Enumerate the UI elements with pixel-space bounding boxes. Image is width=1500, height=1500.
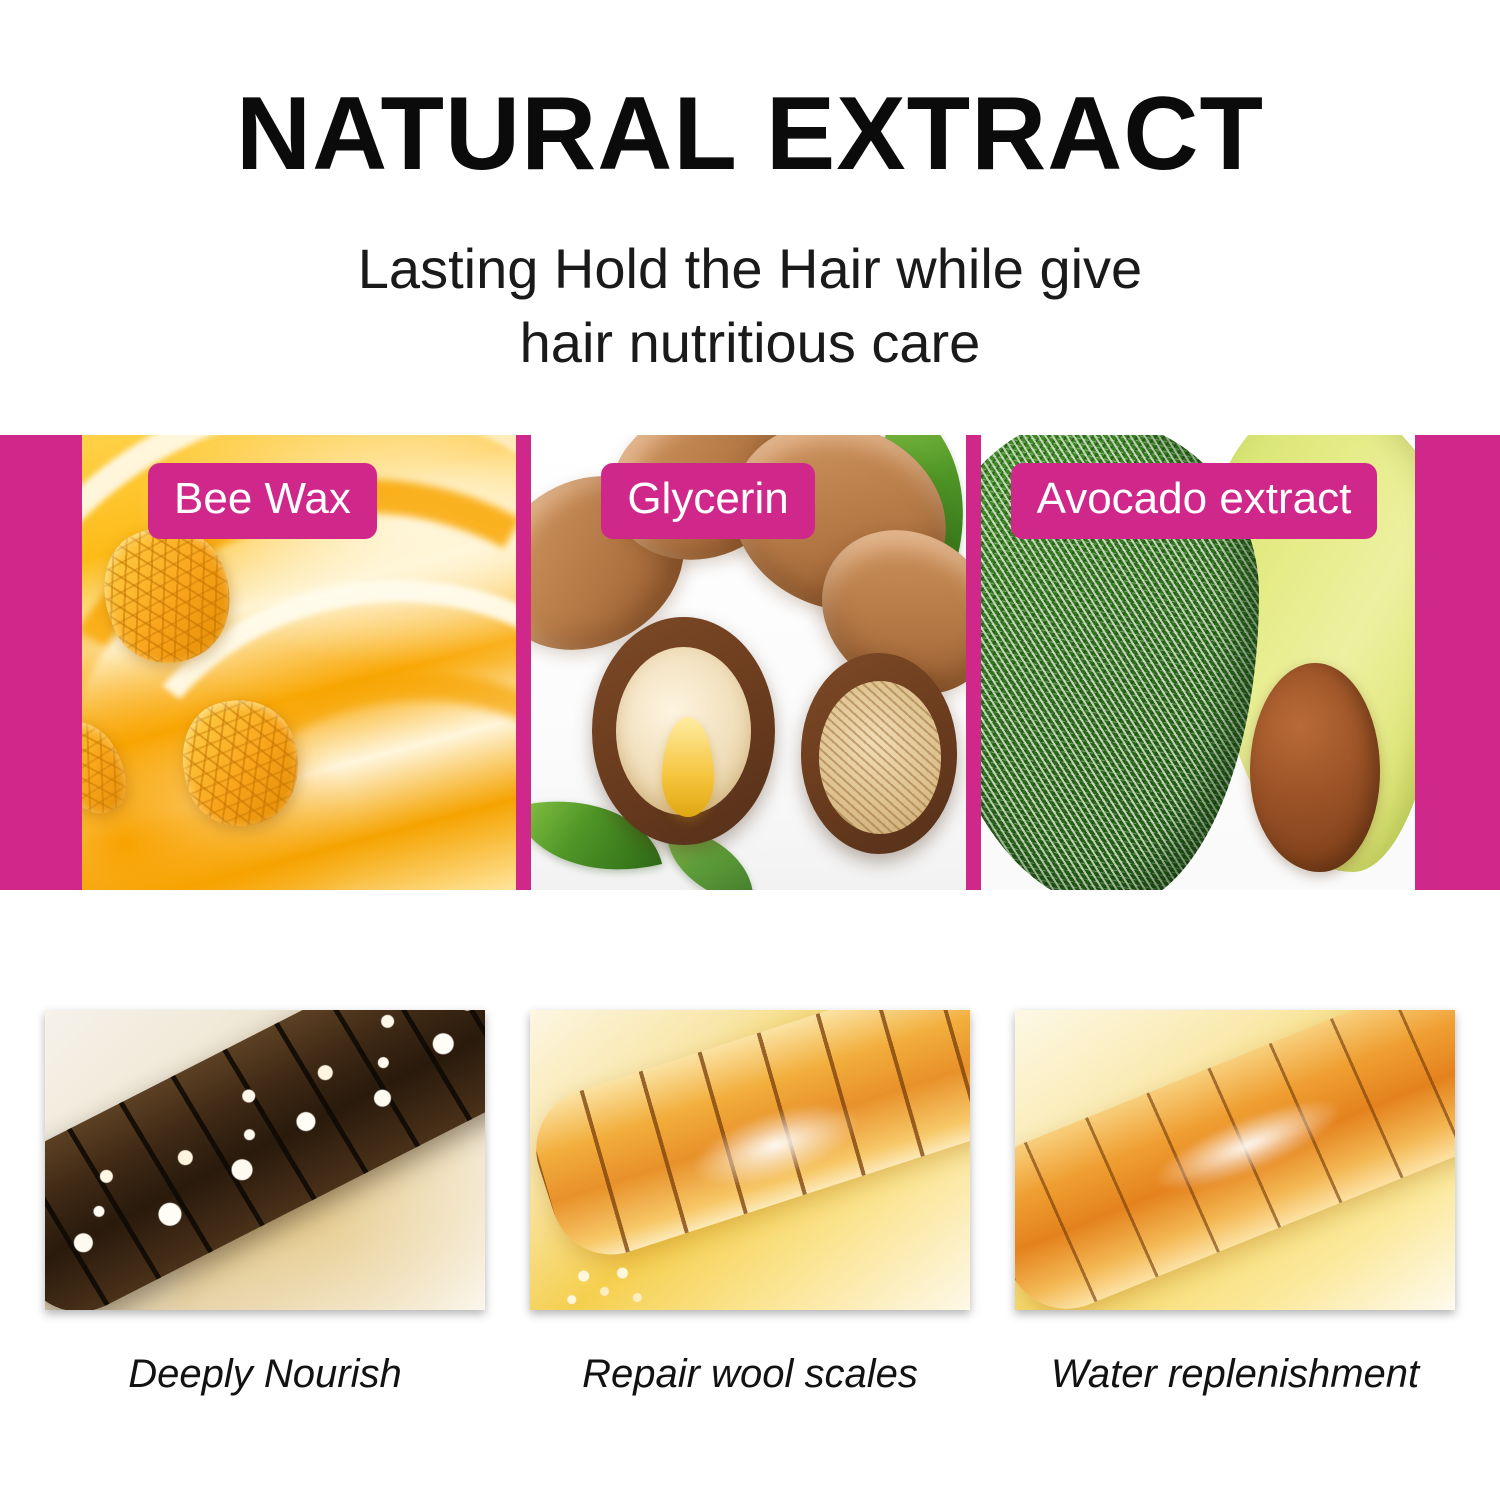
benefit-caption-deeply-nourish: Deeply Nourish: [128, 1352, 401, 1397]
strip-left-accent-band: [0, 435, 82, 890]
avocado-pit: [1250, 663, 1380, 872]
benefit-card-water-replenishment[interactable]: Water replenishment: [1015, 1010, 1455, 1430]
ingredient-badge-avocado-extract: Avocado extract: [1011, 463, 1378, 539]
benefit-image-deeply-nourish: [45, 1010, 485, 1310]
benefit-caption-water-replenishment: Water replenishment: [1051, 1352, 1419, 1397]
strip-right-accent-band: [1415, 435, 1500, 890]
benefit-image-water-replenishment: [1015, 1010, 1455, 1310]
page-subtitle: Lasting Hold the Hair while give hair nu…: [250, 232, 1250, 380]
benefit-caption-repair-wool-scales: Repair wool scales: [582, 1352, 918, 1397]
ingredient-badge-bee-wax: Bee Wax: [148, 463, 377, 539]
ingredient-panel-glycerin[interactable]: Glycerin: [531, 435, 965, 890]
ingredient-panel-bee-wax[interactable]: Bee Wax: [82, 435, 516, 890]
ingredient-strip: Bee Wax Glycerin Avocado extract: [0, 435, 1500, 890]
benefit-row: Deeply Nourish Repair wool scales Water …: [0, 1010, 1500, 1430]
header-block: NATURAL EXTRACT Lasting Hold the Hair wh…: [0, 0, 1500, 428]
benefit-image-repair-wool-scales: [530, 1010, 970, 1310]
subtitle-line-2: hair nutritious care: [250, 306, 1250, 380]
strip-divider-1: [516, 435, 531, 890]
subtitle-line-1: Lasting Hold the Hair while give: [250, 232, 1250, 306]
ingredient-badge-glycerin: Glycerin: [601, 463, 814, 539]
page-title: NATURAL EXTRACT: [0, 78, 1500, 190]
benefit-card-repair-wool-scales[interactable]: Repair wool scales: [530, 1010, 970, 1430]
strip-divider-2: [966, 435, 981, 890]
ingredient-panel-avocado-extract[interactable]: Avocado extract: [981, 435, 1415, 890]
argan-nut-cracked: [801, 653, 957, 853]
benefit-card-deeply-nourish[interactable]: Deeply Nourish: [45, 1010, 485, 1430]
